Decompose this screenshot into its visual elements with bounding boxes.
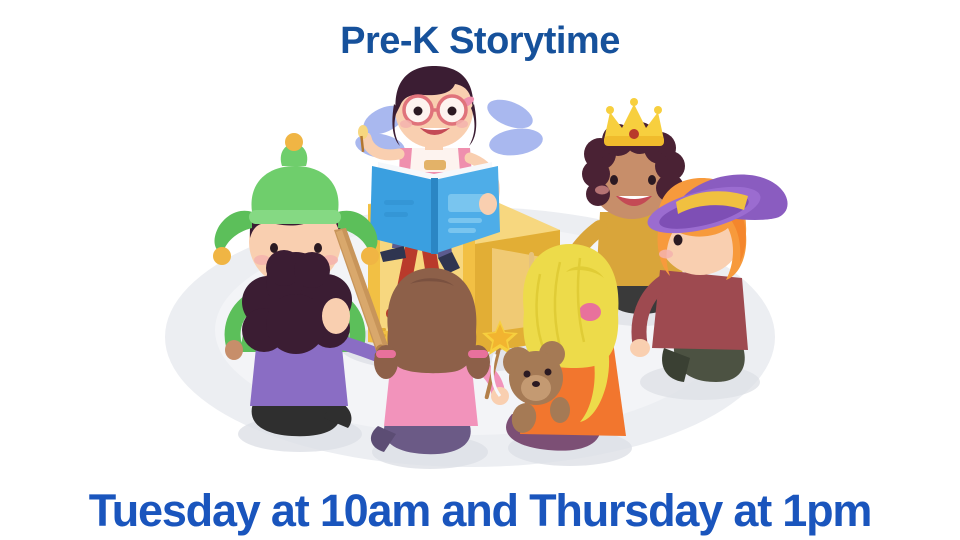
- storytime-illustration: [0, 62, 960, 482]
- page-title: Pre-K Storytime: [0, 22, 960, 60]
- gold-crown: [604, 98, 664, 146]
- schedule-text: Tuesday at 10am and Thursday at 1pm: [0, 487, 960, 534]
- spoon-wand: [358, 125, 368, 139]
- storytime-poster: Pre-K Storytime: [0, 0, 960, 540]
